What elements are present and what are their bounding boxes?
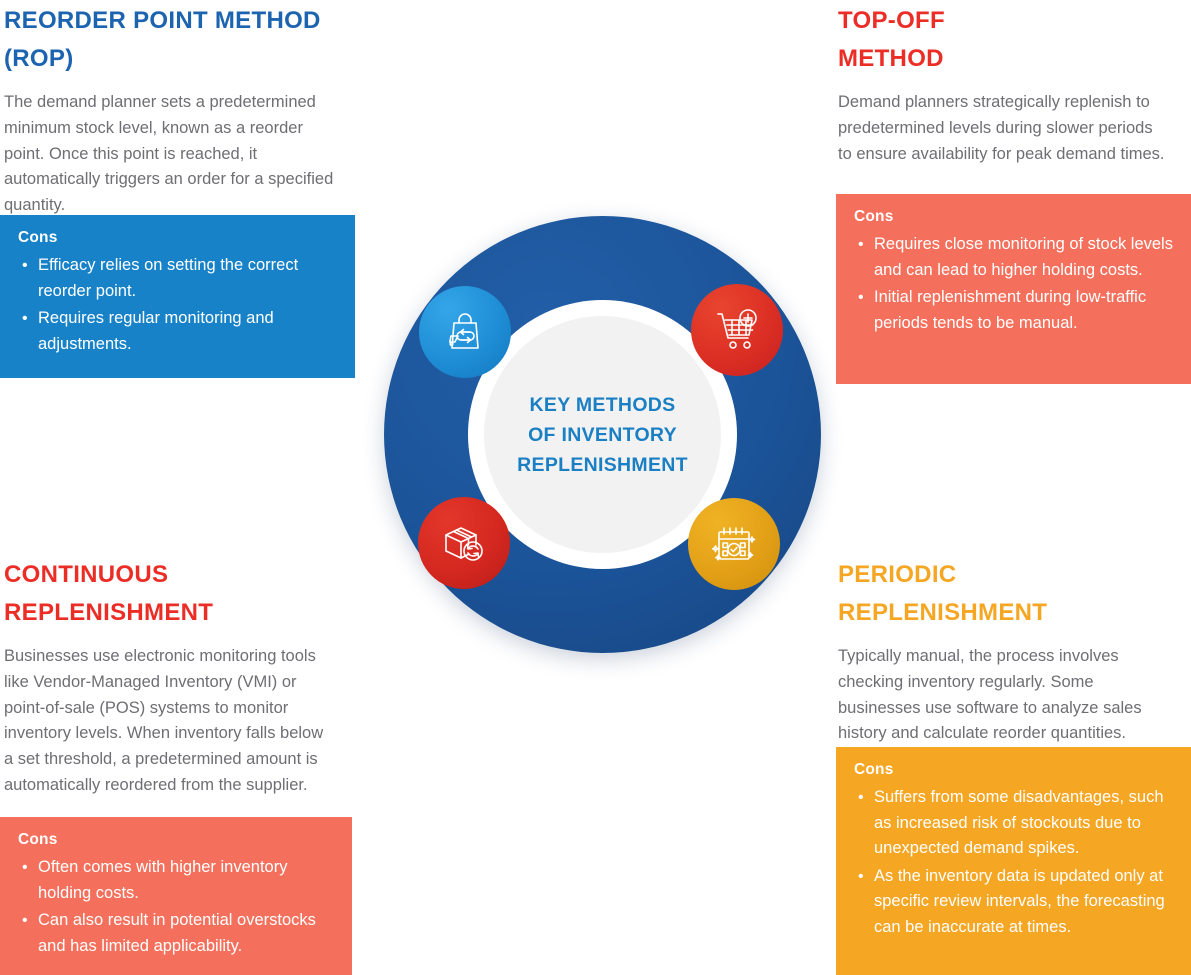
cons-label-top-off: Cons bbox=[854, 208, 1173, 226]
reorder-point-title-line2: (ROP) bbox=[4, 45, 74, 72]
node-continuous[interactable] bbox=[418, 497, 510, 589]
bullet-glyph: • bbox=[858, 864, 864, 890]
cons-label-reorder-point: Cons bbox=[18, 229, 337, 247]
quadrant-continuous: CONTINUOUS REPLENISHMENT Businesses use … bbox=[4, 556, 344, 799]
cons-box-top-off: Cons •Requires close monitoring of stock… bbox=[836, 194, 1191, 384]
cons-item: •As the inventory data is updated only a… bbox=[854, 864, 1173, 941]
core-title-line3: REPLENISHMENT bbox=[517, 454, 688, 476]
core-title-line2: OF INVENTORY bbox=[528, 424, 677, 446]
bullet-glyph: • bbox=[22, 908, 28, 934]
central-donut-diagram: KEY METHODS OF INVENTORY REPLENISHMENT bbox=[380, 212, 825, 657]
cons-box-periodic: Cons •Suffers from some disadvantages, s… bbox=[836, 747, 1191, 975]
core-title: KEY METHODS OF INVENTORY REPLENISHMENT bbox=[517, 390, 688, 480]
bullet-glyph: • bbox=[22, 306, 28, 332]
cons-item: •Initial replenishment during low-traffi… bbox=[854, 285, 1173, 336]
cons-item: •Requires close monitoring of stock leve… bbox=[854, 232, 1173, 283]
reorder-point-title-line1: REORDER POINT METHOD bbox=[4, 7, 321, 34]
quadrant-reorder-point: REORDER POINT METHOD (ROP) The demand pl… bbox=[4, 2, 344, 219]
top-off-body: Demand planners strategically replenish … bbox=[838, 90, 1170, 167]
cons-item: •Requires regular monitoring and adjustm… bbox=[18, 306, 337, 357]
cons-box-reorder-point: Cons •Efficacy relies on setting the cor… bbox=[0, 215, 355, 378]
bullet-glyph: • bbox=[22, 855, 28, 881]
continuous-title: CONTINUOUS REPLENISHMENT bbox=[4, 556, 344, 632]
cons-list-continuous: •Often comes with higher inventory holdi… bbox=[18, 855, 334, 959]
reorder-point-body: The demand planner sets a predetermined … bbox=[4, 90, 334, 219]
cons-item: •Suffers from some disadvantages, such a… bbox=[854, 785, 1173, 862]
cons-list-reorder-point: •Efficacy relies on setting the correct … bbox=[18, 253, 337, 357]
periodic-title: PERIODIC REPLENISHMENT bbox=[838, 556, 1178, 632]
cons-list-top-off: •Requires close monitoring of stock leve… bbox=[854, 232, 1173, 336]
cons-item-text: Suffers from some disadvantages, such as… bbox=[874, 788, 1164, 857]
top-off-title: TOP-OFF METHOD bbox=[838, 2, 1178, 78]
shopping-bag-refresh-icon bbox=[441, 308, 489, 356]
cons-list-periodic: •Suffers from some disadvantages, such a… bbox=[854, 785, 1173, 940]
cons-label-periodic: Cons bbox=[854, 761, 1173, 779]
cons-item: •Often comes with higher inventory holdi… bbox=[18, 855, 334, 906]
cons-item-text: Can also result in potential overstocks … bbox=[38, 911, 316, 955]
periodic-title-line1: PERIODIC bbox=[838, 561, 956, 588]
reorder-point-title: REORDER POINT METHOD (ROP) bbox=[4, 2, 344, 78]
cons-label-continuous: Cons bbox=[18, 831, 334, 849]
periodic-title-line2: REPLENISHMENT bbox=[838, 599, 1047, 626]
cons-item-text: Often comes with higher inventory holdin… bbox=[38, 858, 287, 902]
cons-item-text: Efficacy relies on setting the correct r… bbox=[38, 256, 298, 300]
cons-item: •Efficacy relies on setting the correct … bbox=[18, 253, 337, 304]
node-reorder-point[interactable] bbox=[419, 286, 511, 378]
node-periodic[interactable] bbox=[688, 498, 780, 590]
cons-item: •Can also result in potential overstocks… bbox=[18, 908, 334, 959]
donut-core: KEY METHODS OF INVENTORY REPLENISHMENT bbox=[484, 316, 721, 553]
infographic-canvas: REORDER POINT METHOD (ROP) The demand pl… bbox=[0, 0, 1191, 975]
quadrant-top-off: TOP-OFF METHOD Demand planners strategic… bbox=[838, 2, 1178, 167]
cons-item-text: Requires regular monitoring and adjustme… bbox=[38, 309, 274, 353]
bullet-glyph: • bbox=[22, 253, 28, 279]
calendar-check-icon bbox=[709, 519, 759, 569]
package-refresh-icon bbox=[439, 518, 489, 568]
cons-item-text: Requires close monitoring of stock level… bbox=[874, 235, 1173, 279]
shopping-cart-plus-icon bbox=[712, 305, 762, 355]
top-off-title-line1: TOP-OFF bbox=[838, 7, 945, 34]
bullet-glyph: • bbox=[858, 285, 864, 311]
quadrant-periodic: PERIODIC REPLENISHMENT Typically manual,… bbox=[838, 556, 1178, 747]
node-top-off[interactable] bbox=[691, 284, 783, 376]
bullet-glyph: • bbox=[858, 232, 864, 258]
periodic-body: Typically manual, the process involves c… bbox=[838, 644, 1171, 747]
cons-box-continuous: Cons •Often comes with higher inventory … bbox=[0, 817, 352, 975]
continuous-title-line2: REPLENISHMENT bbox=[4, 599, 213, 626]
core-title-line1: KEY METHODS bbox=[530, 394, 676, 416]
continuous-body: Businesses use electronic monitoring too… bbox=[4, 644, 334, 799]
bullet-glyph: • bbox=[858, 785, 864, 811]
cons-item-text: Initial replenishment during low-traffic… bbox=[874, 288, 1146, 332]
cons-item-text: As the inventory data is updated only at… bbox=[874, 867, 1165, 936]
top-off-title-line2: METHOD bbox=[838, 45, 944, 72]
continuous-title-line1: CONTINUOUS bbox=[4, 561, 168, 588]
